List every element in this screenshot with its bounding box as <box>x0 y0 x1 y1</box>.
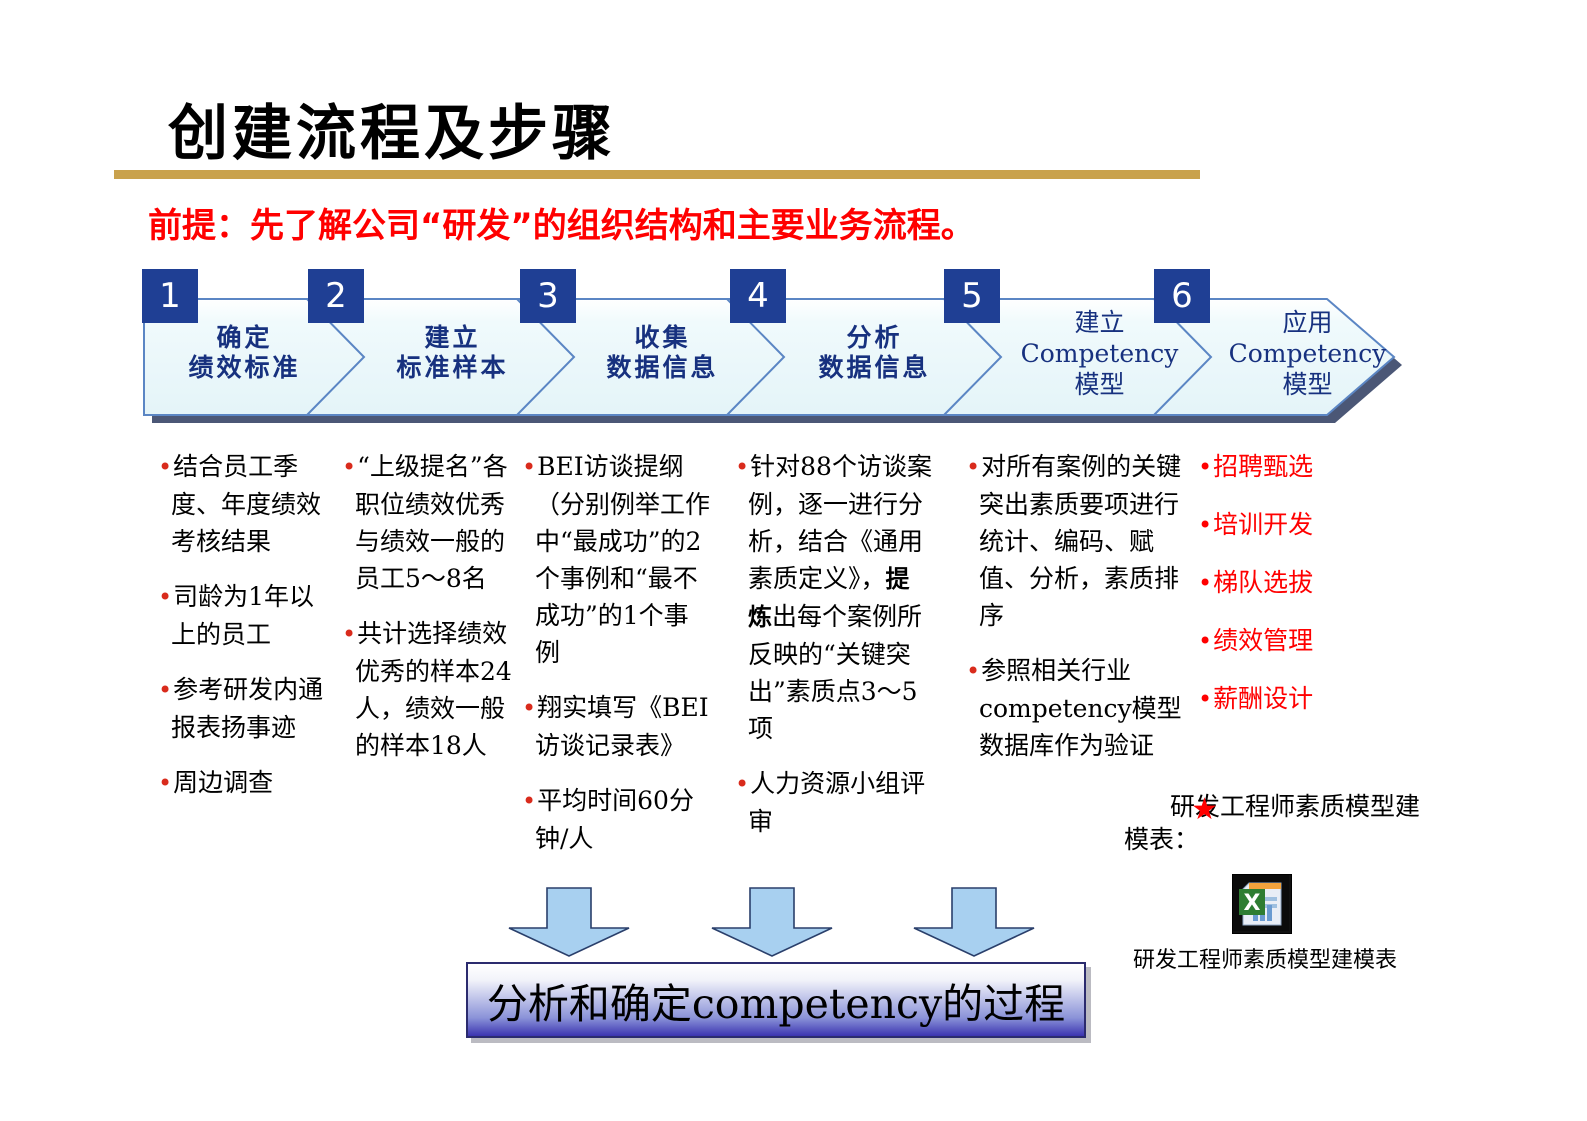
list-item: 参考研发内通报表扬事迹 <box>158 671 334 746</box>
step-label-4: 分析 数据信息 <box>792 323 957 383</box>
list-item: BEI访谈提纲（分别例举工作中“最成功”的2个事例和“最不成功”的1个事例 <box>522 448 712 671</box>
list-item: 绩效管理 <box>1198 622 1388 660</box>
summary-banner-label: 分析和确定competency的过程 <box>487 970 1065 1030</box>
down-arrow-2 <box>708 886 836 963</box>
step-label-2: 建立 标准样本 <box>370 323 535 383</box>
process-chevron-band: 1 2 3 4 5 6 确定 绩效标准 建立 标准样本 收集 数据信息 分析 数… <box>132 285 1402 425</box>
step-label-3: 收集 数据信息 <box>580 323 745 383</box>
emphasis-run: 提炼 <box>748 565 910 631</box>
title-divider <box>114 170 1200 179</box>
bullet-column-5: 对所有案例的关键突出素质要项进行统计、编码、赋值、分析，素质排序 参照相关行业c… <box>966 448 1184 782</box>
list-item: 薪酬设计 <box>1198 680 1388 718</box>
list-item: 梯队选拔 <box>1198 564 1388 602</box>
bullet-column-4: 针对88个访谈案例，逐一进行分析，结合《通用素质定义》，提炼出每个案例所反映的“… <box>735 448 933 858</box>
premise-text: 前提：先了解公司“研发”的组织结构和主要业务流程。 <box>148 198 975 247</box>
list-item: “上级提名”各职位绩效优秀与绩效一般的员工5～8名 <box>342 448 514 597</box>
excel-file-icon[interactable]: X <box>1232 874 1292 934</box>
step-number-4[interactable]: 4 <box>730 269 786 323</box>
list-item: 人力资源小组评审 <box>735 765 933 840</box>
down-arrow-3 <box>910 886 1038 963</box>
page-title: 创建流程及步骤 <box>168 85 616 172</box>
step-label-1: 确定 绩效标准 <box>162 323 327 383</box>
bullet-column-3: BEI访谈提纲（分别例举工作中“最成功”的2个事例和“最不成功”的1个事例 翔实… <box>522 448 712 875</box>
list-item: 结合员工季度、年度绩效考核结果 <box>158 448 334 560</box>
down-arrow-1 <box>505 886 633 963</box>
list-item: 共计选择绩效优秀的样本24人，绩效一般的样本18人 <box>342 615 514 764</box>
list-item: 周边调查 <box>158 764 334 802</box>
list-item: 平均时间60分钟/人 <box>522 782 712 857</box>
list-item: 参照相关行业competency模型数据库作为验证 <box>966 652 1184 764</box>
step-number-3[interactable]: 3 <box>520 269 576 323</box>
step-label-6: 应用 Competency 模型 <box>1200 307 1415 400</box>
list-item: 翔实填写《BEI访谈记录表》 <box>522 689 712 764</box>
list-item: 对所有案例的关键突出素质要项进行统计、编码、赋值、分析，素质排序 <box>966 448 1184 634</box>
step-label-5: 建立 Competency 模型 <box>992 307 1207 400</box>
bullet-column-2: “上级提名”各职位绩效优秀与绩效一般的员工5～8名 共计选择绩效优秀的样本24人… <box>342 448 514 782</box>
step-number-1[interactable]: 1 <box>142 269 198 323</box>
svg-text:X: X <box>1244 891 1261 916</box>
list-item: 培训开发 <box>1198 506 1388 544</box>
summary-banner: 分析和确定competency的过程 <box>466 962 1086 1038</box>
step-number-2[interactable]: 2 <box>308 269 364 323</box>
slide-root: 创建流程及步骤 前提：先了解公司“研发”的组织结构和主要业务流程。 <box>0 0 1587 1121</box>
list-item: 招聘甄选 <box>1198 448 1388 486</box>
star-icon: ★ <box>1191 795 1218 825</box>
bullet-column-1: 结合员工季度、年度绩效考核结果 司龄为1年以上的员工 参考研发内通报表扬事迹 周… <box>158 448 334 820</box>
list-item: 司龄为1年以上的员工 <box>158 578 334 653</box>
excel-file-label: 研发工程师素质模型建模表 <box>1130 946 1400 975</box>
attachment-note-text: 研发工程师素质模型建模表： <box>1124 790 1424 856</box>
bullet-column-6: 招聘甄选 培训开发 梯队选拔 绩效管理 薪酬设计 <box>1198 448 1388 738</box>
list-item: 针对88个访谈案例，逐一进行分析，结合《通用素质定义》，提炼出每个案例所反映的“… <box>735 448 933 747</box>
